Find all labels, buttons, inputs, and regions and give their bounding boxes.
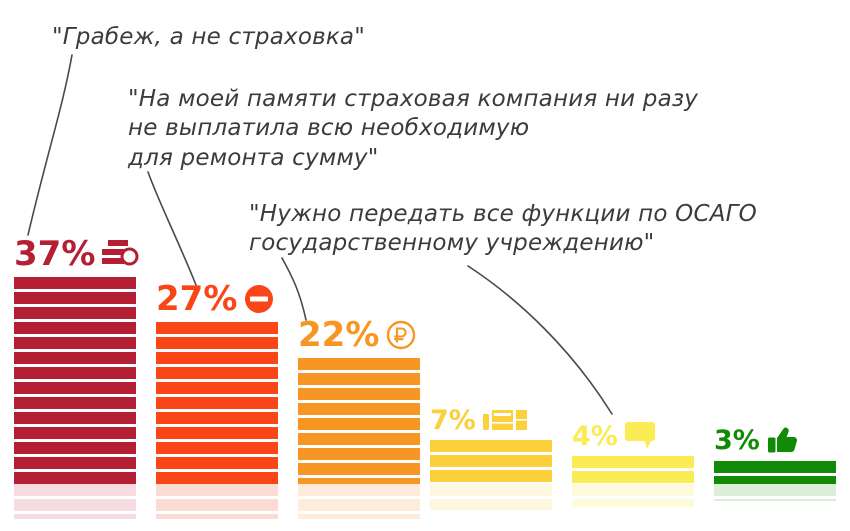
bar-value-label: 3% xyxy=(714,427,760,454)
bar-stripe xyxy=(430,499,552,510)
bar-stripe xyxy=(298,403,420,415)
bar-label-22pct: 22% xyxy=(298,318,416,352)
bar-stripe xyxy=(156,472,278,484)
bar-stripe xyxy=(714,476,836,484)
bar-stripe xyxy=(156,514,278,519)
bar-stripe xyxy=(14,484,136,496)
bar-stripe xyxy=(156,352,278,364)
bar-stripe xyxy=(572,456,694,468)
bar-stripe xyxy=(14,367,136,379)
bar-stripe xyxy=(714,461,836,473)
bar-stripe xyxy=(430,455,552,467)
document-coin-icon xyxy=(102,239,142,269)
bar-stripe xyxy=(298,388,420,400)
no-entry-icon xyxy=(244,284,274,314)
bar-stripe xyxy=(430,484,552,496)
bar-fill xyxy=(714,461,836,501)
quote-text-3: "Нужно передать все функции по ОСАГО гос… xyxy=(249,200,757,259)
bar-stripe xyxy=(156,322,278,334)
bar-value-label: 37% xyxy=(14,237,95,271)
bar-stripe xyxy=(714,499,836,501)
bar-22pct[interactable]: 22% xyxy=(298,358,420,519)
bar-stripe xyxy=(14,499,136,511)
leader-line-quote-3-right xyxy=(468,266,612,414)
bar-stripe xyxy=(430,440,552,452)
bar-stripe xyxy=(14,427,136,439)
bar-stripe xyxy=(14,322,136,334)
bar-label-27pct: 27% xyxy=(156,282,274,316)
bar-27pct[interactable]: 27% xyxy=(156,322,278,519)
bar-stripe xyxy=(156,412,278,424)
bar-stripe xyxy=(14,442,136,454)
bar-stripe xyxy=(156,442,278,454)
quote-text-2: "На моей памяти страховая компания ни ра… xyxy=(128,85,698,173)
bar-stripe xyxy=(156,457,278,469)
bar-fill xyxy=(572,456,694,507)
bar-value-label: 7% xyxy=(430,407,476,434)
ruble-coin-icon xyxy=(386,320,416,350)
bar-stripe xyxy=(572,471,694,483)
bar-value-label: 4% xyxy=(572,423,618,450)
bar-stripe xyxy=(298,448,420,460)
bar-3pct[interactable]: 3% xyxy=(714,461,836,501)
bar-stripe xyxy=(14,382,136,394)
bar-stripe xyxy=(156,427,278,439)
bar-stripe xyxy=(14,307,136,319)
bar-stripe xyxy=(14,352,136,364)
bar-label-7pct: 7% xyxy=(430,407,527,434)
bar-fill xyxy=(156,322,278,519)
bar-fill xyxy=(430,440,552,510)
bar-stripe xyxy=(156,397,278,409)
bar-stripe xyxy=(156,382,278,394)
bar-stripe xyxy=(572,499,694,507)
bar-stripe xyxy=(298,418,420,430)
quote-text-1: "Грабеж, а не страховка" xyxy=(52,23,365,52)
bar-stripe xyxy=(298,499,420,511)
bar-label-37pct: 37% xyxy=(14,237,142,271)
bar-label-3pct: 3% xyxy=(714,425,799,455)
bar-stripe xyxy=(156,367,278,379)
bar-7pct[interactable]: 7% xyxy=(430,440,552,510)
bar-stripe xyxy=(298,373,420,385)
bar-stripe xyxy=(430,470,552,482)
bar-label-4pct: 4% xyxy=(572,422,659,450)
infographic-canvas: "Грабеж, а не страховка" "На моей памяти… xyxy=(0,0,850,531)
leader-line-quote-1 xyxy=(28,55,72,235)
bar-stripe xyxy=(14,457,136,469)
bar-fill xyxy=(298,358,420,519)
bar-stripe xyxy=(14,277,136,289)
bar-stripe xyxy=(14,292,136,304)
leader-line-quote-2 xyxy=(148,172,196,285)
car-icon xyxy=(483,408,527,434)
bar-stripe xyxy=(298,463,420,475)
bar-stripe xyxy=(14,337,136,349)
bar-stripe xyxy=(298,433,420,445)
bar-stripe xyxy=(298,484,420,496)
bar-value-label: 27% xyxy=(156,282,237,316)
bar-stripe xyxy=(14,397,136,409)
bar-fill xyxy=(14,277,136,519)
bar-stripe xyxy=(156,337,278,349)
bar-stripe xyxy=(156,499,278,511)
bar-value-label: 22% xyxy=(298,318,379,352)
bar-stripe xyxy=(298,514,420,519)
bar-37pct[interactable]: 37% xyxy=(14,277,136,519)
bar-stripe xyxy=(714,484,836,496)
speech-bubble-icon xyxy=(625,422,659,450)
leader-line-quote-3 xyxy=(282,258,306,320)
bar-stripe xyxy=(14,412,136,424)
bar-4pct[interactable]: 4% xyxy=(572,456,694,507)
bar-stripe xyxy=(14,472,136,484)
bar-stripe xyxy=(14,514,136,519)
thumbs-up-icon xyxy=(767,425,799,455)
bar-stripe xyxy=(298,358,420,370)
bar-stripe xyxy=(572,484,694,496)
bar-stripe xyxy=(156,484,278,496)
